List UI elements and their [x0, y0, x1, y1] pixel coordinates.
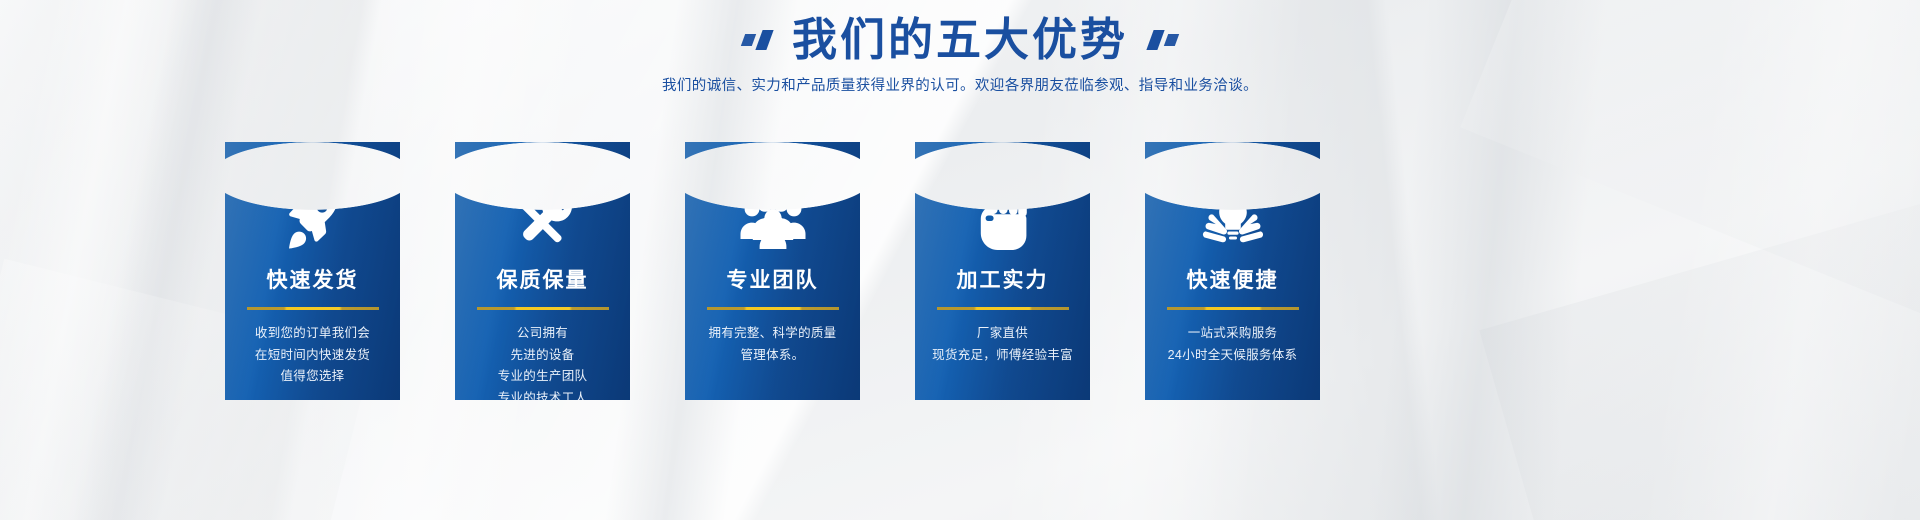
card-divider [477, 307, 609, 310]
advantage-card[interactable]: 快速便捷 一站式采购服务 24小时全天候服务体系 [1145, 142, 1320, 400]
card-body: 收到您的订单我们会 在短时间内快速发货 值得您选择 [225, 323, 400, 388]
advantage-card-list: 快速发货 收到您的订单我们会 在短时间内快速发货 值得您选择 [225, 142, 1322, 400]
card-title: 加工实力 [915, 264, 1090, 294]
card-title: 快速发货 [225, 264, 400, 294]
card-body-line: 24小时全天候服务体系 [1145, 345, 1320, 367]
card-title: 保质保量 [455, 264, 630, 294]
page-subtitle: 我们的诚信、实力和产品质量获得业界的认可。欢迎各界朋友莅临参观、指导和业务洽谈。 [0, 74, 1920, 95]
card-body-line: 拥有完整、科学的质量 [685, 323, 860, 345]
card-body-line: 专业的生产团队 [455, 366, 630, 388]
rocket-icon [225, 186, 400, 256]
card-title: 快速便捷 [1145, 264, 1320, 294]
card-body-line: 专业的技术工人 [455, 388, 630, 401]
advantage-card[interactable]: 保质保量 公司拥有 先进的设备 专业的生产团队 专业的技术工人 [455, 142, 630, 400]
card-body: 拥有完整、科学的质量 管理体系。 [685, 323, 860, 366]
lightbulb-in-hands-icon [1145, 186, 1320, 256]
advantage-card[interactable]: 加工实力 厂家直供 现货充足，师傅经验丰富 [915, 142, 1090, 400]
card-body: 一站式采购服务 24小时全天候服务体系 [1145, 323, 1320, 366]
people-group-icon [685, 186, 860, 256]
title-row: 我们的五大优势 [0, 16, 1920, 63]
card-body: 厂家直供 现货充足，师傅经验丰富 [915, 323, 1090, 366]
card-body-line: 先进的设备 [455, 345, 630, 367]
card-divider [707, 307, 839, 310]
banner-header: 我们的五大优势 我们的诚信、实力和产品质量获得业界的认可。欢迎各界朋友莅临参观、… [0, 16, 1920, 95]
diamond-decoration-right-icon [1150, 30, 1177, 50]
tools-wrench-screwdriver-icon [455, 186, 630, 256]
advantage-card[interactable]: 专业团队 拥有完整、科学的质量 管理体系。 [685, 142, 860, 400]
advantage-card[interactable]: 快速发货 收到您的订单我们会 在短时间内快速发货 值得您选择 [225, 142, 400, 400]
diamond-decoration-left-icon [743, 30, 770, 50]
card-body-line: 值得您选择 [225, 366, 400, 388]
card-body-line: 公司拥有 [455, 323, 630, 345]
card-body-line: 一站式采购服务 [1145, 323, 1320, 345]
card-body-line: 收到您的订单我们会 [225, 323, 400, 345]
advantages-banner: 我们的五大优势 我们的诚信、实力和产品质量获得业界的认可。欢迎各界朋友莅临参观、… [0, 0, 1920, 520]
card-body-line: 厂家直供 [915, 323, 1090, 345]
card-divider [247, 307, 379, 310]
card-body-line: 现货充足，师傅经验丰富 [915, 345, 1090, 367]
card-title: 专业团队 [685, 264, 860, 294]
card-body-line: 管理体系。 [685, 345, 860, 367]
card-divider [1167, 307, 1299, 310]
card-divider [937, 307, 1069, 310]
fist-icon [915, 186, 1090, 256]
page-title: 我们的五大优势 [792, 16, 1128, 63]
card-body-line: 在短时间内快速发货 [225, 345, 400, 367]
card-body: 公司拥有 先进的设备 专业的生产团队 专业的技术工人 [455, 323, 630, 400]
background-facet [1479, 204, 1920, 520]
